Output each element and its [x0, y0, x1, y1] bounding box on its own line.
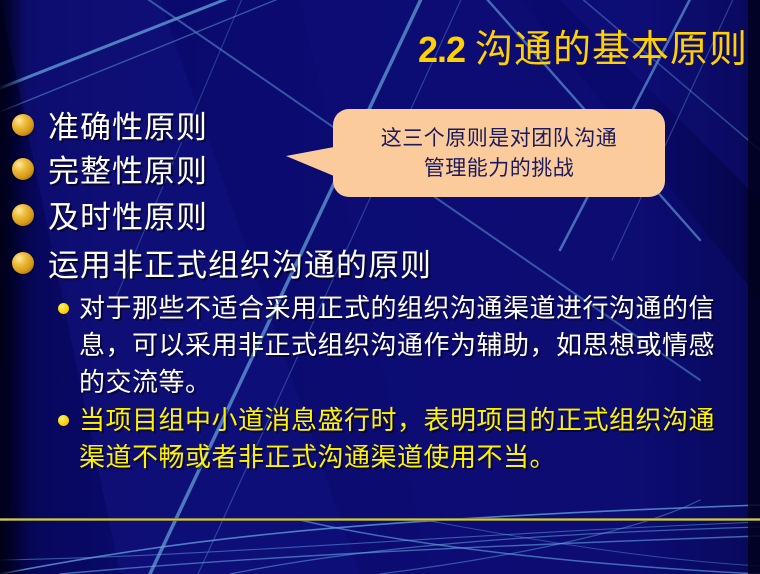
sphere-bullet-icon — [12, 114, 34, 136]
bullet-item-4: 运用非正式组织沟通的原则 — [12, 240, 432, 285]
slide-title: 2.2沟通的基本原则 — [0, 18, 748, 73]
callout-tail-pointer — [286, 147, 334, 176]
bullet-item-2: 完整性原则 — [12, 146, 208, 191]
callout-line-2: 管理能力的挑战 — [424, 153, 575, 183]
dot-bullet-icon — [58, 303, 69, 314]
background-streaks — [0, 0, 760, 574]
bullet-label: 完整性原则 — [48, 146, 208, 191]
sub-bullet-label: 对于那些不适合采用正式的组织沟通渠道进行沟通的信息，可以采用非正式组织沟通作为辅… — [79, 290, 717, 401]
sphere-bullet-icon — [12, 158, 34, 180]
callout-text: 这三个原则是对团队沟通 管理能力的挑战 — [333, 109, 665, 197]
callout-balloon: 这三个原则是对团队沟通 管理能力的挑战 — [333, 109, 665, 197]
title-number: 2.2 — [418, 29, 465, 70]
sphere-bullet-icon — [12, 204, 34, 226]
bullet-item-1: 准确性原则 — [12, 102, 208, 147]
bullet-label: 运用非正式组织沟通的原则 — [48, 240, 432, 285]
sub-bullet-label: 当项目组中小道消息盛行时，表明项目的正式组织沟通渠道不畅或者非正式沟通渠道使用不… — [79, 402, 717, 476]
sub-bullet-item-2: 当项目组中小道消息盛行时，表明项目的正式组织沟通渠道不畅或者非正式沟通渠道使用不… — [58, 402, 717, 476]
presentation-slide: 2.2沟通的基本原则 准确性原则 完整性原则 及时性原则 运用非正式组织沟通的原… — [0, 0, 760, 574]
callout-line-1: 这三个原则是对团队沟通 — [381, 123, 618, 153]
sub-bullet-item-1: 对于那些不适合采用正式的组织沟通渠道进行沟通的信息，可以采用非正式组织沟通作为辅… — [58, 290, 717, 401]
bullet-label: 准确性原则 — [48, 102, 208, 147]
title-heading: 沟通的基本原则 — [475, 29, 748, 71]
footer-divider — [0, 518, 760, 521]
dot-bullet-icon — [58, 415, 69, 426]
bullet-item-3: 及时性原则 — [12, 192, 208, 237]
sphere-bullet-icon — [12, 252, 34, 274]
bullet-label: 及时性原则 — [48, 192, 208, 237]
